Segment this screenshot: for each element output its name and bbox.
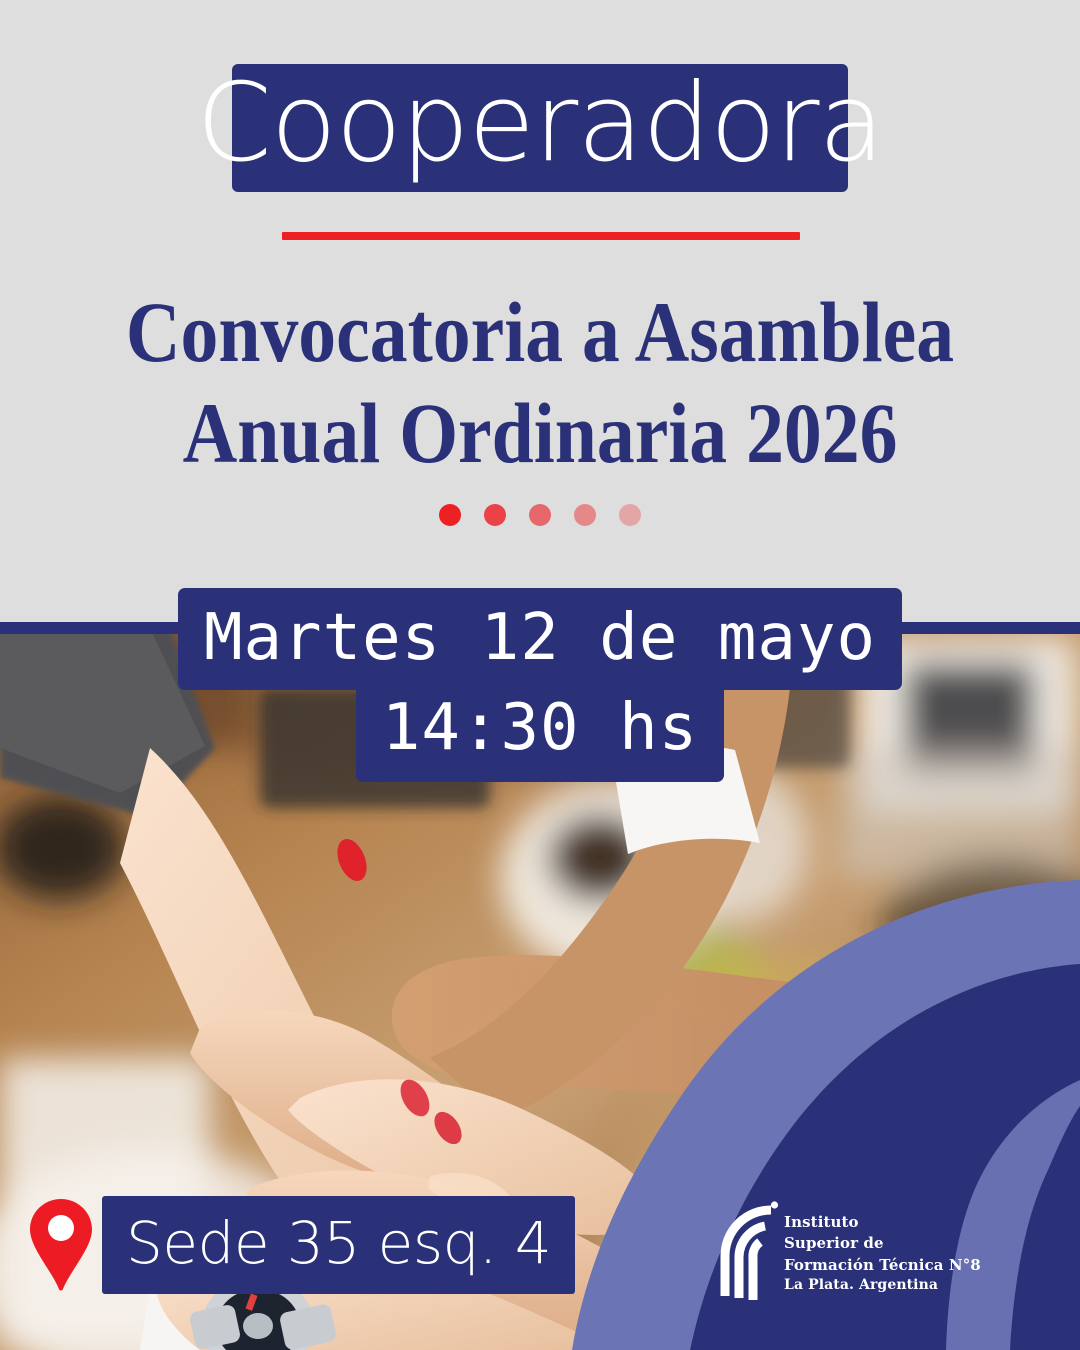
map-pin-icon: [30, 1199, 92, 1291]
institute-logo-text: Instituto Superior de Formación Técnica …: [784, 1196, 981, 1296]
page-title: Convocatoria a Asamblea Anual Ordinaria …: [65, 282, 1015, 485]
separator-dot: [484, 504, 506, 526]
location-block: Sede 35 esq. 4: [30, 1196, 575, 1294]
concentric-arcs-logo-icon: [713, 1196, 779, 1304]
headline-line-2: Anual Ordinaria 2026: [65, 383, 1015, 484]
location-label: Sede 35 esq. 4: [102, 1196, 575, 1294]
separator-dot: [439, 504, 461, 526]
logo-line-3: Formación Técnica N°8: [784, 1255, 981, 1276]
time-text: 14:30 hs: [356, 686, 724, 782]
headline-line-1: Convocatoria a Asamblea: [65, 282, 1015, 383]
header-kicker-box: Cooperadora: [232, 64, 848, 192]
separator-dot: [574, 504, 596, 526]
dot-separator: [0, 504, 1080, 526]
poster-canvas: Cooperadora Convocatoria a Asamblea Anua…: [0, 0, 1080, 1350]
logo-line-1: Instituto: [784, 1212, 981, 1233]
red-underline-rule: [282, 232, 800, 240]
logo-line-2: Superior de: [784, 1233, 981, 1254]
date-text: Martes 12 de mayo: [178, 588, 902, 690]
institute-logo: Instituto Superior de Formación Técnica …: [713, 1196, 981, 1304]
kicker-text: Cooperadora: [196, 70, 883, 178]
logo-line-4: La Plata. Argentina: [784, 1276, 981, 1296]
separator-dot: [529, 504, 551, 526]
separator-dot: [619, 504, 641, 526]
date-time-banner: Martes 12 de mayo 14:30 hs: [0, 588, 1080, 782]
